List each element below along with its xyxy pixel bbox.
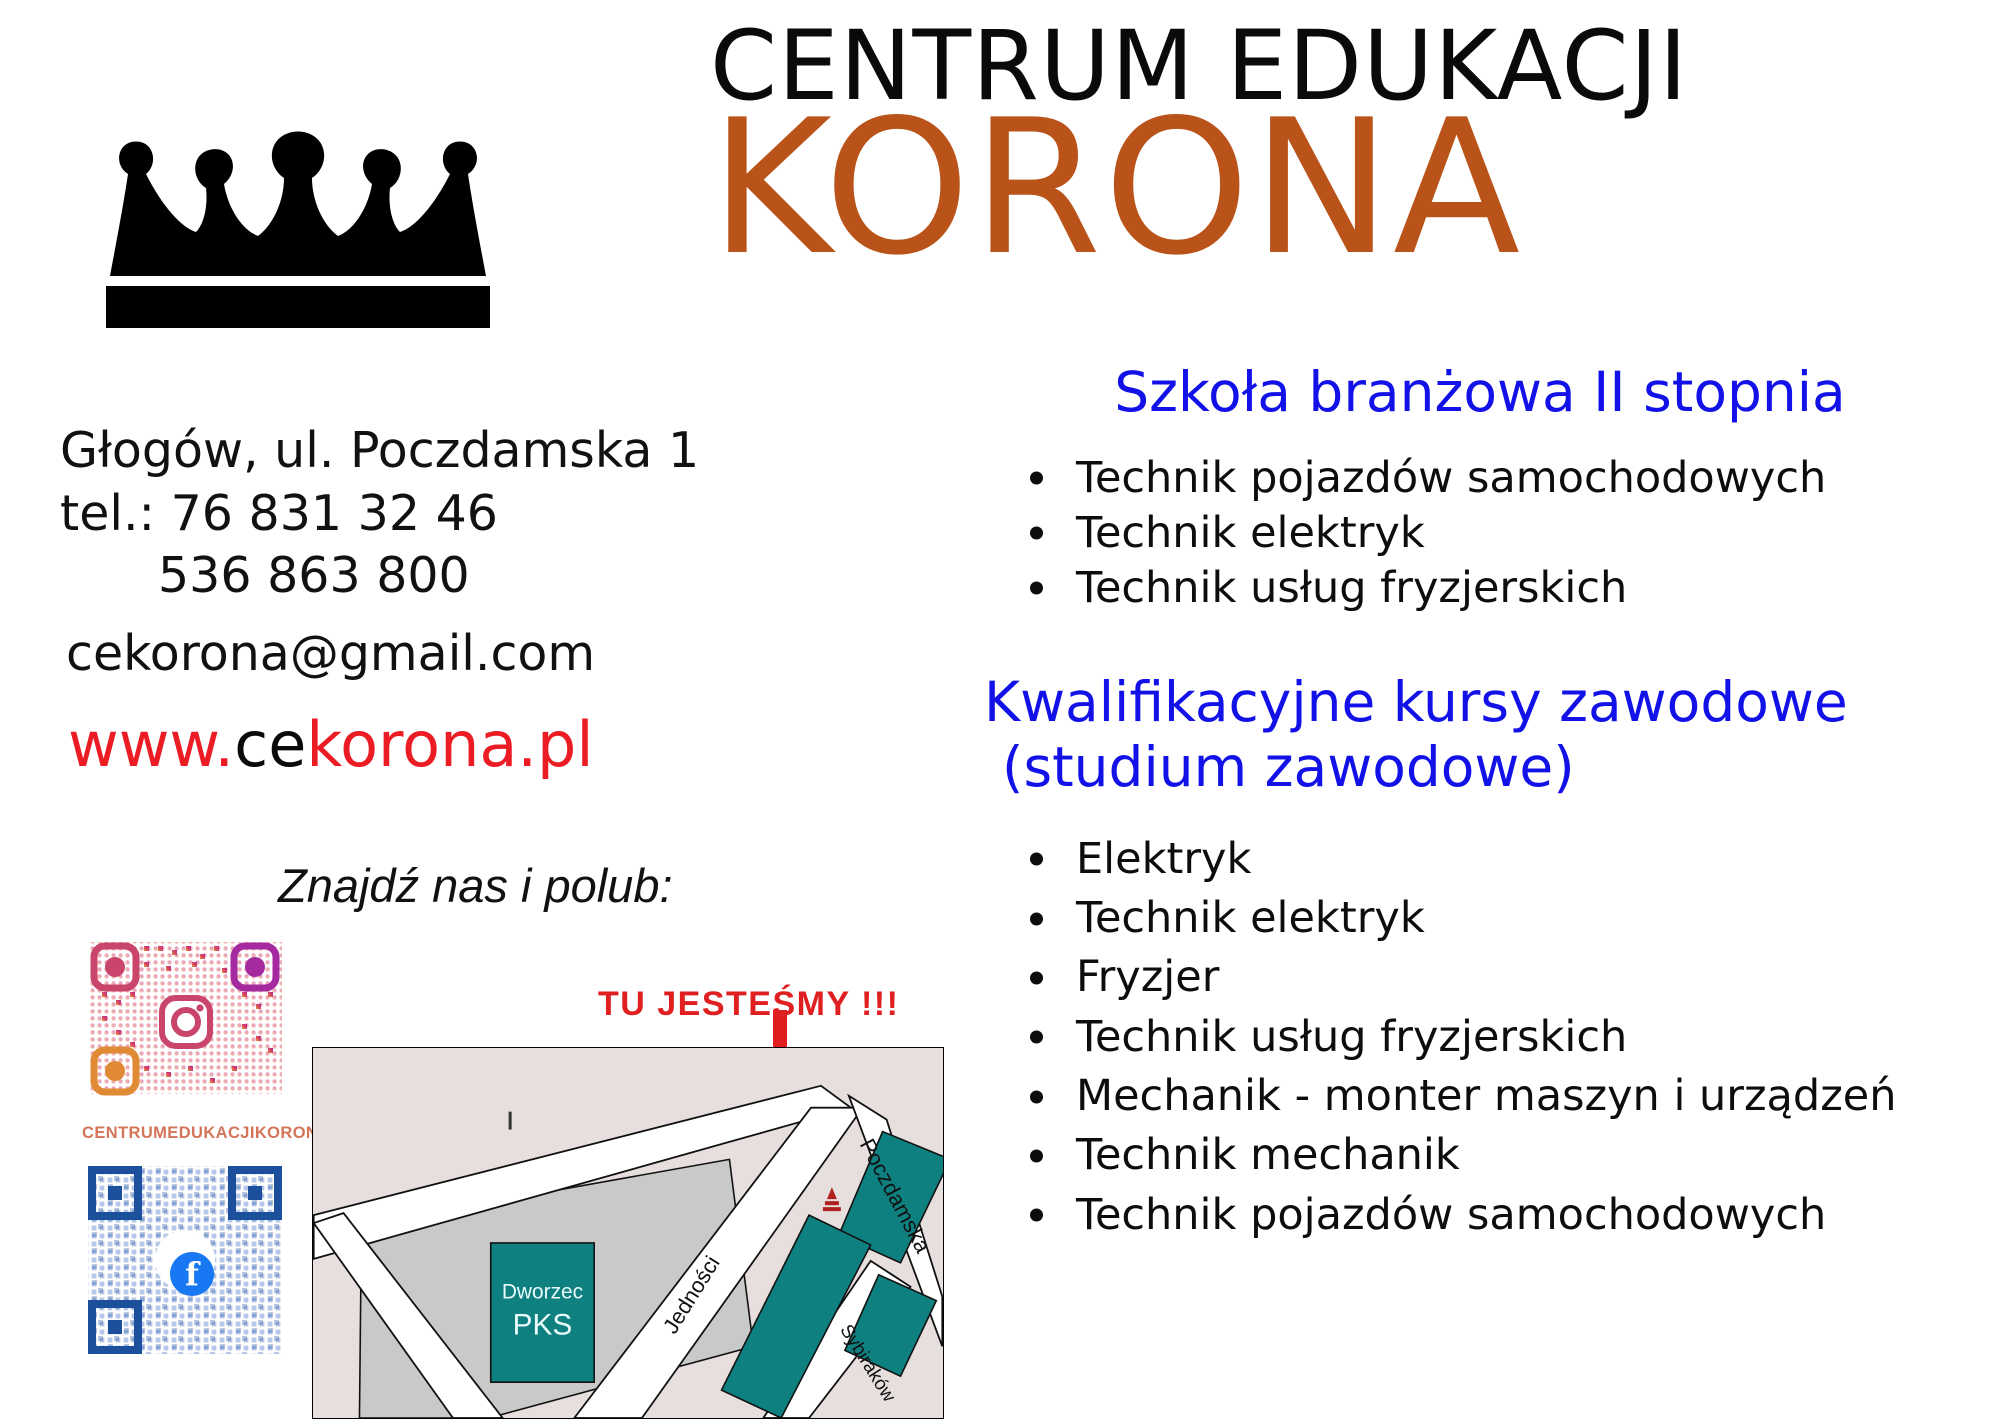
map-label-dworzec: Dworzec xyxy=(502,1281,583,1304)
facebook-letter: f xyxy=(185,1258,199,1290)
map-label-pks: PKS xyxy=(513,1308,573,1341)
list-item: Fryzjer xyxy=(1024,948,1980,1007)
course-list-kwalifikacyjne: Elektryk Technik elektryk Fryzjer Techni… xyxy=(980,830,1980,1245)
list-item: Technik pojazdów samochodowych xyxy=(1024,451,1980,506)
heading-kkz-line2: (studium zawodowe) xyxy=(984,735,1980,800)
list-item: Elektryk xyxy=(1024,830,1980,889)
instagram-icon xyxy=(160,996,212,1048)
phone-line-1: tel.: 76 831 32 46 xyxy=(60,483,960,546)
crown-icon xyxy=(78,28,598,358)
flyer-page: CENTRUM EDUKACJI KORONA Głogów, ul. Pocz… xyxy=(0,0,2000,1424)
list-item: Technik elektryk xyxy=(1024,506,1980,561)
spacer xyxy=(980,616,1980,670)
heading-szkola-branzowa: Szkoła branżowa II stopnia xyxy=(980,360,1980,425)
list-item: Technik mechanik xyxy=(1024,1126,1980,1185)
website-part-korona: korona.pl xyxy=(306,708,593,781)
course-list-szkola-branzowa: Technik pojazdów samochodowych Technik e… xyxy=(980,451,1980,616)
brand-title: CENTRUM EDUKACJI KORONA xyxy=(710,18,1980,277)
heading-kwalifikacyjne-kursy: Kwalifikacyjne kursy zawodowe (studium z… xyxy=(980,670,1980,800)
list-item: Technik usług fryzjerskich xyxy=(1024,561,1980,616)
list-item: Mechanik - monter maszyn i urządzeń xyxy=(1024,1067,1980,1126)
instagram-handle: CENTRUMEDUKACJIKORONA xyxy=(82,1124,297,1143)
contact-block: Głogów, ul. Poczdamska 1 tel.: 76 831 32… xyxy=(60,420,960,786)
facebook-icon[interactable]: f xyxy=(170,1252,214,1296)
here-we-are-label: TU JESTEŚMY !!! xyxy=(598,985,899,1024)
brand-line-korona: KORONA xyxy=(710,100,1980,277)
find-us-label: Znajdź nas i polub: xyxy=(278,858,673,913)
email-address[interactable]: cekorona@gmail.com xyxy=(60,618,960,689)
website-part-ce: ce xyxy=(234,708,306,781)
list-item: Technik pojazdów samochodowych xyxy=(1024,1186,1980,1245)
address-line: Głogów, ul. Poczdamska 1 xyxy=(60,420,960,483)
website-part-www: www. xyxy=(68,708,234,781)
instagram-qr-code[interactable] xyxy=(82,938,288,1098)
phone-line-2: 536 863 800 xyxy=(60,545,960,608)
list-item: Technik elektryk xyxy=(1024,889,1980,948)
heading-kkz-line1: Kwalifikacyjne kursy zawodowe xyxy=(984,670,1980,735)
list-item: Technik usług fryzjerskich xyxy=(1024,1008,1980,1067)
website-url[interactable]: www.cekorona.pl xyxy=(60,705,960,786)
location-map[interactable]: Dworzec PKS Jedności Poczdamska Sybirakó… xyxy=(312,1047,944,1419)
programs-column: Szkoła branżowa II stopnia Technik pojaz… xyxy=(980,360,1980,1245)
